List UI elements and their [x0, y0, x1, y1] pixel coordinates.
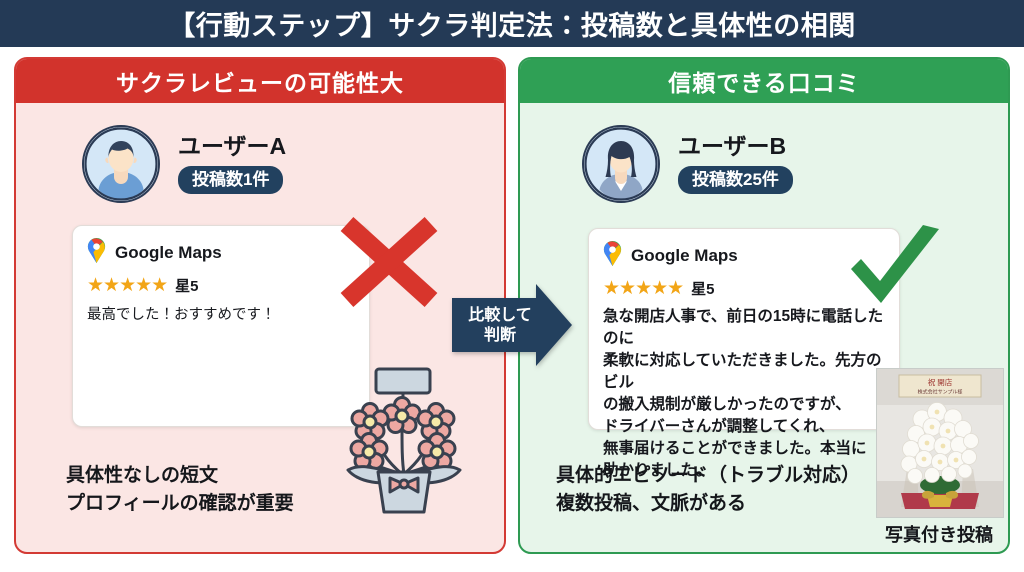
google-maps-pin-icon	[87, 238, 106, 268]
star-rating-icon: ★★★★★	[603, 277, 683, 300]
slide-root: 【行動ステップ】サクラ判定法：投稿数と具体性の相関 サクラレビューの可能性大 ユ…	[0, 0, 1024, 572]
right-panel-heading: 信頼できる口コミ	[520, 59, 1008, 103]
left-review-source-label: Google Maps	[115, 243, 222, 263]
left-review-source-row: Google Maps	[73, 226, 369, 268]
slide-header: 【行動ステップ】サクラ判定法：投稿数と具体性の相関	[0, 0, 1024, 47]
right-post-count-badge: 投稿数25件	[678, 166, 793, 195]
orchid-photo: 祝 開店 株式会社サンプル様	[876, 368, 1004, 518]
svg-text:祝 開店: 祝 開店	[928, 377, 953, 387]
left-review-star-label: 星5	[175, 275, 198, 296]
right-panel-caption: 具体的エピソード（トラブル対応） 複数投稿、文脈がある	[556, 462, 860, 517]
flower-pot-icon	[338, 366, 470, 516]
left-review-text: 最高でした！おすすめです！	[73, 297, 369, 326]
right-user-meta: ユーザーB 投稿数25件	[678, 134, 793, 195]
right-review-text: 急な開店人事で、前日の15時に電話したのに 柔軟に対応していただきました。先方の…	[589, 300, 899, 482]
left-review-card: Google Maps ★★★★★ 星5 最高でした！おすすめです！	[72, 225, 370, 427]
cross-mark-icon	[334, 216, 444, 308]
left-user-name: ユーザーA	[178, 134, 286, 159]
right-review-source-label: Google Maps	[631, 246, 738, 266]
google-maps-pin-icon	[603, 241, 622, 271]
left-user-meta: ユーザーA 投稿数1件	[178, 134, 286, 195]
photo-caption: 写真付き投稿	[874, 521, 1004, 547]
star-rating-icon: ★★★★★	[87, 274, 167, 297]
right-user-name: ユーザーB	[678, 134, 793, 159]
compare-arrow-icon	[452, 284, 572, 366]
page-title: 【行動ステップ】サクラ判定法：投稿数と具体性の相関	[168, 4, 856, 43]
right-review-star-label: 星5	[691, 278, 714, 299]
left-post-count-badge: 投稿数1件	[178, 166, 283, 195]
user-avatar-female-icon	[582, 125, 660, 203]
check-mark-icon	[845, 225, 945, 311]
user-avatar-male-icon	[82, 125, 160, 203]
left-panel-caption: 具体性なしの短文 プロフィールの確認が重要	[66, 462, 294, 517]
svg-text:株式会社サンプル様: 株式会社サンプル様	[918, 389, 963, 396]
left-review-rating: ★★★★★ 星5	[73, 268, 369, 297]
left-panel-heading: サクラレビューの可能性大	[16, 59, 504, 103]
right-user-row: ユーザーB 投稿数25件	[520, 125, 1008, 203]
left-user-row: ユーザーA 投稿数1件	[16, 125, 504, 203]
